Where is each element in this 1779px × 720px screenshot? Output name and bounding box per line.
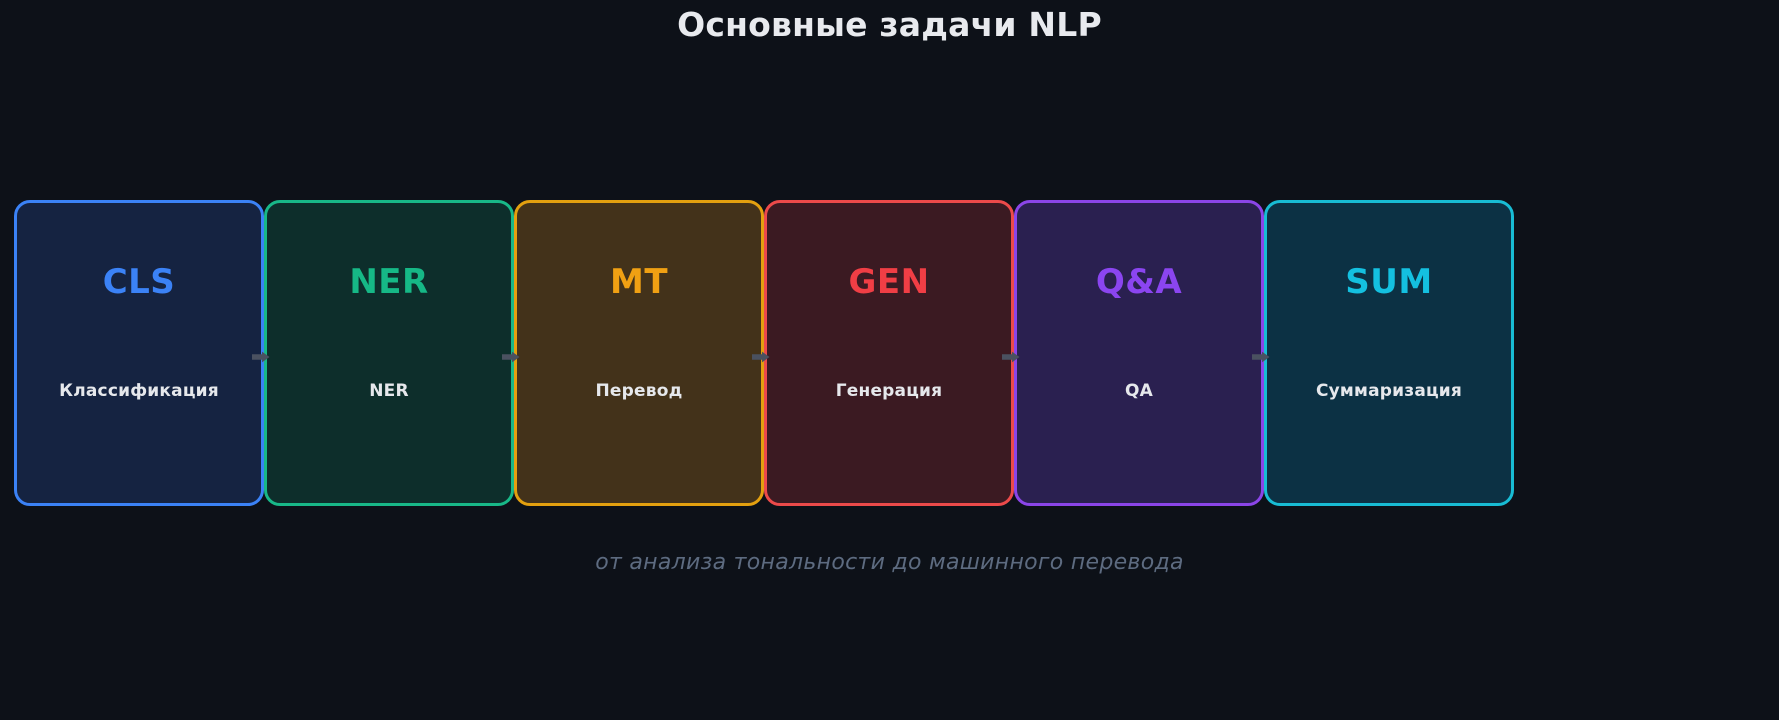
task-card-acronym: SUM bbox=[1345, 265, 1432, 299]
arrow-right-icon bbox=[1252, 351, 1270, 363]
task-card-acronym: GEN bbox=[848, 265, 929, 299]
task-card-row: CLSКлассификацияNERNERMTПереводGENГенера… bbox=[14, 200, 1518, 506]
task-card-label: NER bbox=[267, 381, 511, 401]
task-card-acronym: Q&A bbox=[1096, 265, 1182, 299]
page-title: Основные задачи NLP bbox=[0, 5, 1779, 44]
task-card-label: QA bbox=[1017, 381, 1261, 401]
task-card-sum[interactable]: SUMСуммаризация bbox=[1264, 200, 1514, 506]
task-card-mt[interactable]: MTПеревод bbox=[514, 200, 764, 506]
task-card-qa[interactable]: Q&AQA bbox=[1014, 200, 1264, 506]
task-card-acronym: CLS bbox=[103, 265, 176, 299]
task-card-label: Перевод bbox=[517, 381, 761, 401]
task-card-acronym: MT bbox=[610, 265, 668, 299]
task-card-label: Генерация bbox=[767, 381, 1011, 401]
arrow-right-icon bbox=[502, 351, 520, 363]
task-card-gen[interactable]: GENГенерация bbox=[764, 200, 1014, 506]
arrow-right-icon bbox=[752, 351, 770, 363]
task-card-cls[interactable]: CLSКлассификация bbox=[14, 200, 264, 506]
arrow-right-icon bbox=[1002, 351, 1020, 363]
task-card-label: Суммаризация bbox=[1267, 381, 1511, 401]
task-card-label: Классификация bbox=[17, 381, 261, 401]
task-card-ner[interactable]: NERNER bbox=[264, 200, 514, 506]
diagram-canvas: Основные задачи NLP CLSКлассификацияNERN… bbox=[0, 0, 1779, 720]
task-card-acronym: NER bbox=[349, 265, 428, 299]
diagram-caption: от анализа тональности до машинного пере… bbox=[0, 550, 1779, 575]
arrow-right-icon bbox=[252, 351, 270, 363]
